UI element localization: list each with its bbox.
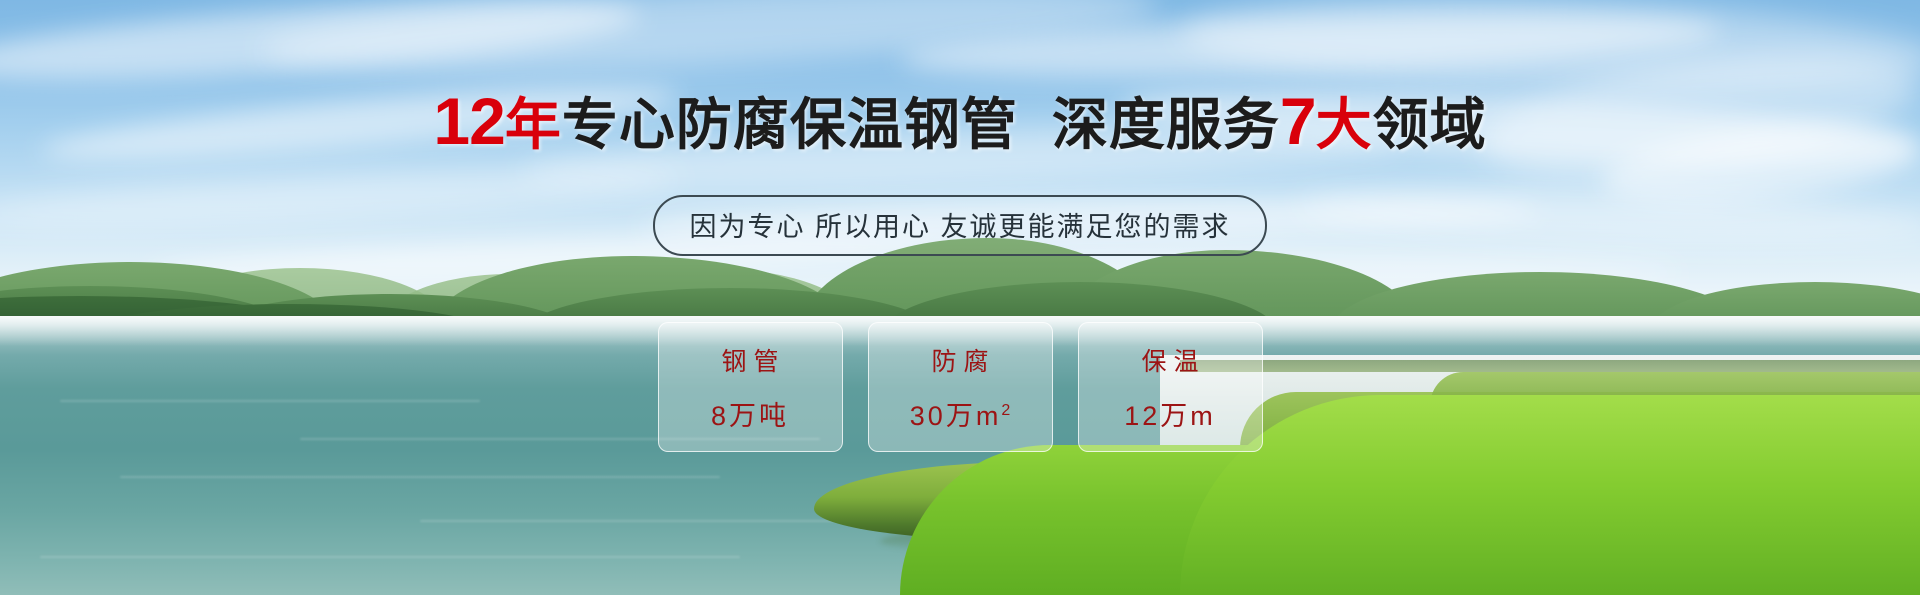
stat-card-insulation[interactable]: 保温 12万m [1078, 322, 1263, 452]
headline-years-unit: 年 [505, 93, 562, 156]
headline: 12年专心防腐保温钢管深度服务7大领域 [0, 88, 1920, 154]
headline-years: 12 [433, 84, 504, 158]
subtitle-pill: 因为专心 所以用心 友诚更能满足您的需求 [653, 195, 1266, 256]
stat-value-text: 30万m [910, 401, 1002, 431]
stat-card-title: 保温 [1134, 342, 1205, 378]
stat-card-title: 防腐 [924, 342, 995, 378]
stat-card-value: 12万m [1124, 394, 1216, 433]
stat-value-text: 8万吨 [711, 401, 789, 431]
stat-value-superscript: 2 [1001, 402, 1010, 419]
banner-content: 12年专心防腐保温钢管深度服务7大领域 因为专心 所以用心 友诚更能满足您的需求… [0, 0, 1920, 595]
headline-main-text: 专心防腐保温钢管 [562, 93, 1018, 156]
stat-card-value: 30万m2 [910, 394, 1010, 433]
headline-fields-label: 领域 [1373, 93, 1487, 156]
subtitle-container: 因为专心 所以用心 友诚更能满足您的需求 [0, 195, 1920, 256]
hero-banner: 12年专心防腐保温钢管深度服务7大领域 因为专心 所以用心 友诚更能满足您的需求… [0, 0, 1920, 595]
stat-card-list: 钢管 8万吨 防腐 30万m2 保温 12万m [0, 322, 1920, 452]
headline-service-text: 深度服务 [1052, 93, 1280, 156]
stat-value-text: 12万m [1124, 401, 1216, 431]
stat-card-value: 8万吨 [711, 394, 789, 433]
stat-card-steel-pipe[interactable]: 钢管 8万吨 [658, 322, 843, 452]
headline-fields-unit: 大 [1316, 93, 1373, 156]
headline-fields-count: 7 [1280, 84, 1316, 158]
stat-card-title: 钢管 [714, 342, 785, 378]
stat-card-anticorrosion[interactable]: 防腐 30万m2 [868, 322, 1053, 452]
